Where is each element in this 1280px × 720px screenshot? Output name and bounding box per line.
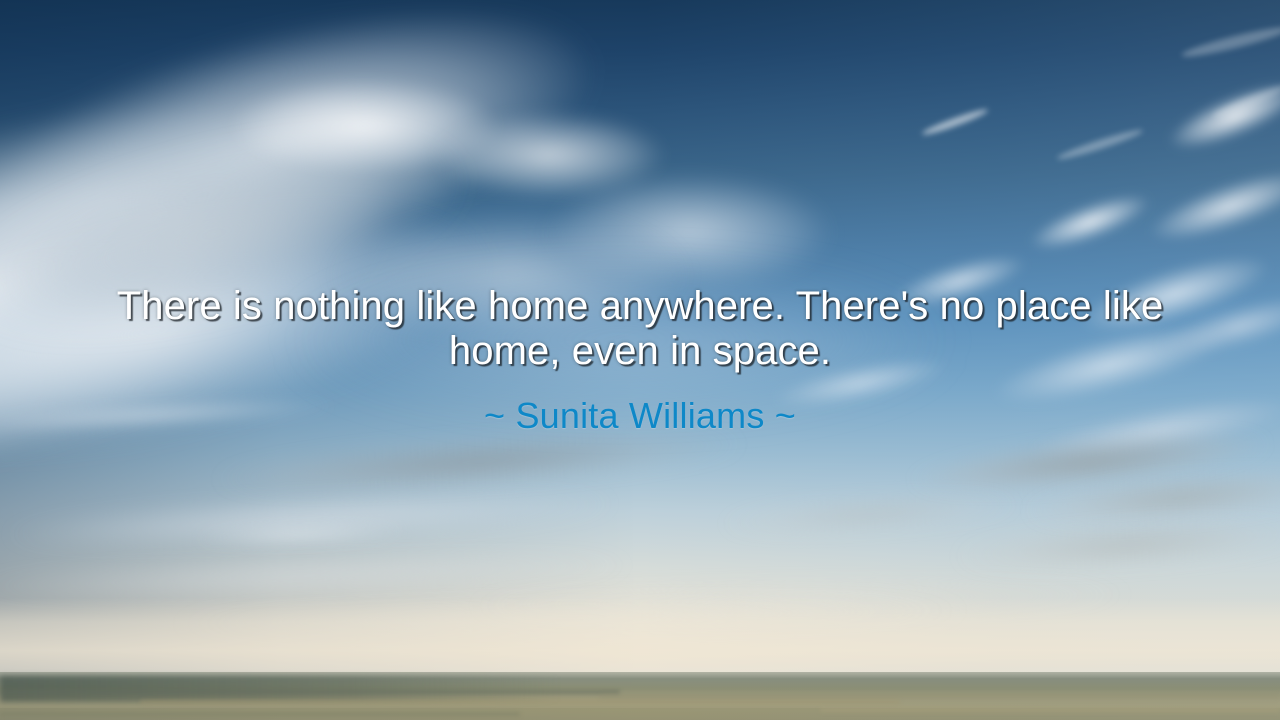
cirrus-wisp-3	[1180, 23, 1280, 61]
ground-streak-5	[0, 712, 520, 716]
cloud-streak-right-1	[1146, 60, 1280, 172]
ground-streak-3	[600, 694, 1280, 698]
ground-dark-ridge-left	[0, 676, 560, 702]
quote-wallpaper: There is nothing like home anywhere. The…	[0, 0, 1280, 720]
quote-text: There is nothing like home anywhere. The…	[110, 284, 1170, 374]
quote-author[interactable]: ~ Sunita Williams ~	[484, 395, 796, 437]
cloud-layer-low-3	[120, 594, 1020, 640]
quote-block: There is nothing like home anywhere. The…	[0, 284, 1280, 437]
ground-streak-1	[0, 690, 620, 694]
cirrus-wisp-2	[1056, 126, 1144, 162]
ground-streak-2	[140, 700, 900, 704]
ground-streak-4	[820, 708, 1280, 712]
cirrus-wisp-1	[921, 106, 990, 137]
